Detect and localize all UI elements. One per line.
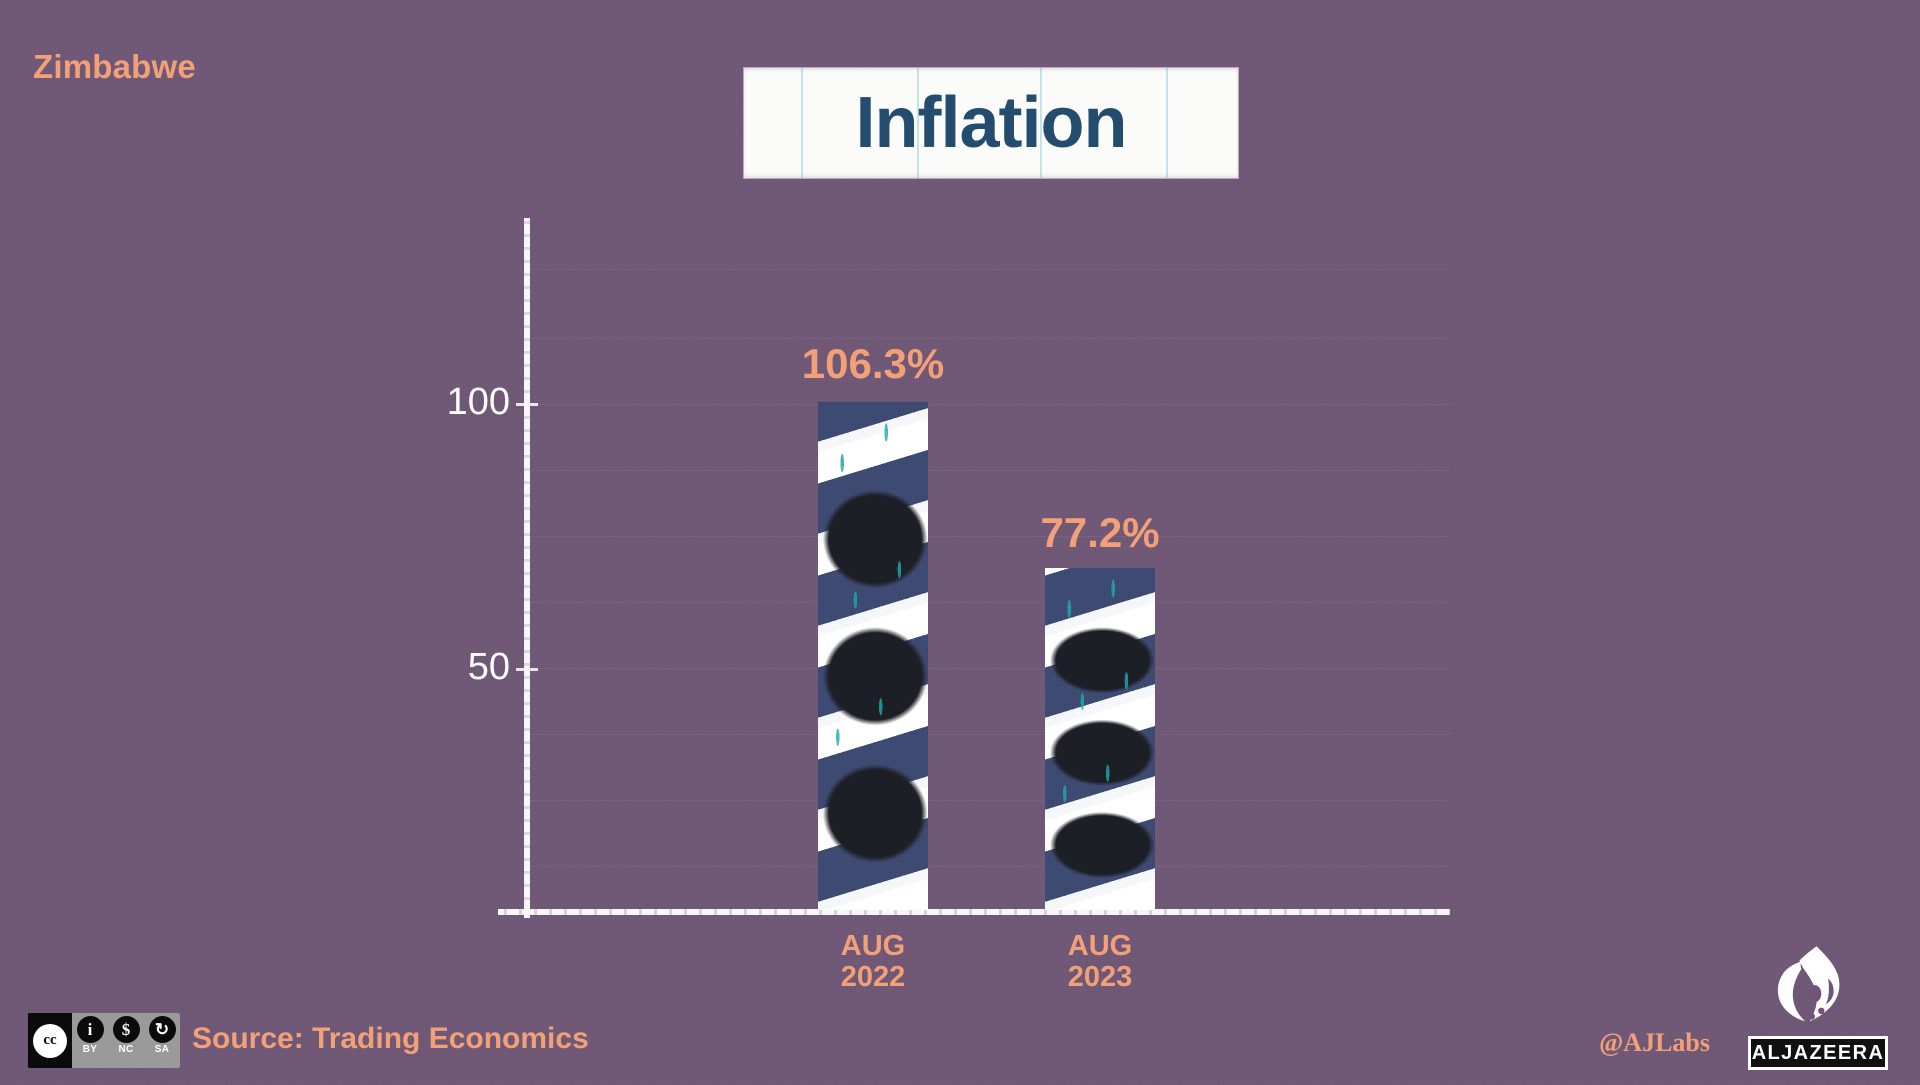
y-tick-mark-100: [516, 403, 538, 406]
bar-chart: 100 50 106.3% 77.2% AUG 2022 AUG 2023: [0, 0, 1920, 1085]
al-jazeera-wordmark: ALJAZEERA: [1748, 1036, 1888, 1070]
x-category-label-aug-2022: AUG 2022: [783, 931, 963, 993]
x-category-label-aug-2022-line2: 2022: [783, 962, 963, 993]
x-axis-line: [498, 909, 1450, 915]
cc-circle-icon: cc: [33, 1024, 67, 1058]
gridline: [530, 602, 1450, 603]
gridline: [530, 866, 1450, 867]
y-tick-label-50: 50: [400, 646, 510, 689]
y-tick-mark-50: [516, 668, 538, 671]
gridline: [530, 668, 1450, 669]
cc-terms: i BY $ NC ↻ SA: [72, 1013, 180, 1068]
x-category-label-aug-2023-line1: AUG: [1010, 931, 1190, 962]
cc-term-sa-label: SA: [155, 1044, 170, 1055]
gridline: [530, 470, 1450, 471]
cc-term-sa: ↻ SA: [144, 1013, 180, 1068]
cc-logo-icon: cc: [28, 1013, 72, 1068]
share-alike-icon: ↻: [149, 1016, 176, 1043]
no-commercial-icon: $: [113, 1016, 140, 1043]
bar-aug-2023[interactable]: [1045, 568, 1155, 910]
cc-term-by: i BY: [72, 1013, 108, 1068]
infographic-canvas: Zimbabwe Inflation 100 50: [0, 0, 1920, 1085]
person-icon: i: [77, 1016, 104, 1043]
gridline: [530, 404, 1450, 405]
bar-value-label-aug-2022: 106.3%: [748, 340, 998, 388]
y-tick-label-50-wrap: 50: [380, 646, 510, 690]
cc-term-nc: $ NC: [108, 1013, 144, 1068]
social-handle: @AJLabs: [1599, 1028, 1710, 1058]
bar-aug-2022[interactable]: [818, 402, 928, 910]
x-category-label-aug-2022-line1: AUG: [783, 931, 963, 962]
source-attribution: Source: Trading Economics: [192, 1022, 589, 1056]
cc-term-nc-label: NC: [118, 1044, 133, 1055]
x-category-label-aug-2023: AUG 2023: [1010, 931, 1190, 993]
y-tick-label-100: 100: [400, 381, 510, 424]
gridline: [530, 734, 1450, 735]
bar-grain: [818, 402, 928, 910]
bar-value-label-aug-2023: 77.2%: [975, 509, 1225, 557]
x-category-label-aug-2023-line2: 2023: [1010, 962, 1190, 993]
cc-term-by-label: BY: [83, 1044, 98, 1055]
creative-commons-license-badge[interactable]: cc i BY $ NC ↻ SA: [28, 1013, 180, 1068]
al-jazeera-logo: ALJAZEERA: [1742, 944, 1892, 1072]
gridline: [530, 800, 1450, 801]
gridline: [530, 338, 1450, 339]
y-axis-line: [524, 218, 530, 918]
gridline: [530, 269, 1450, 270]
bar-grain: [1045, 568, 1155, 910]
al-jazeera-calligraphy-icon: [1770, 944, 1865, 1032]
y-tick-label-100-wrap: 100: [380, 381, 510, 425]
